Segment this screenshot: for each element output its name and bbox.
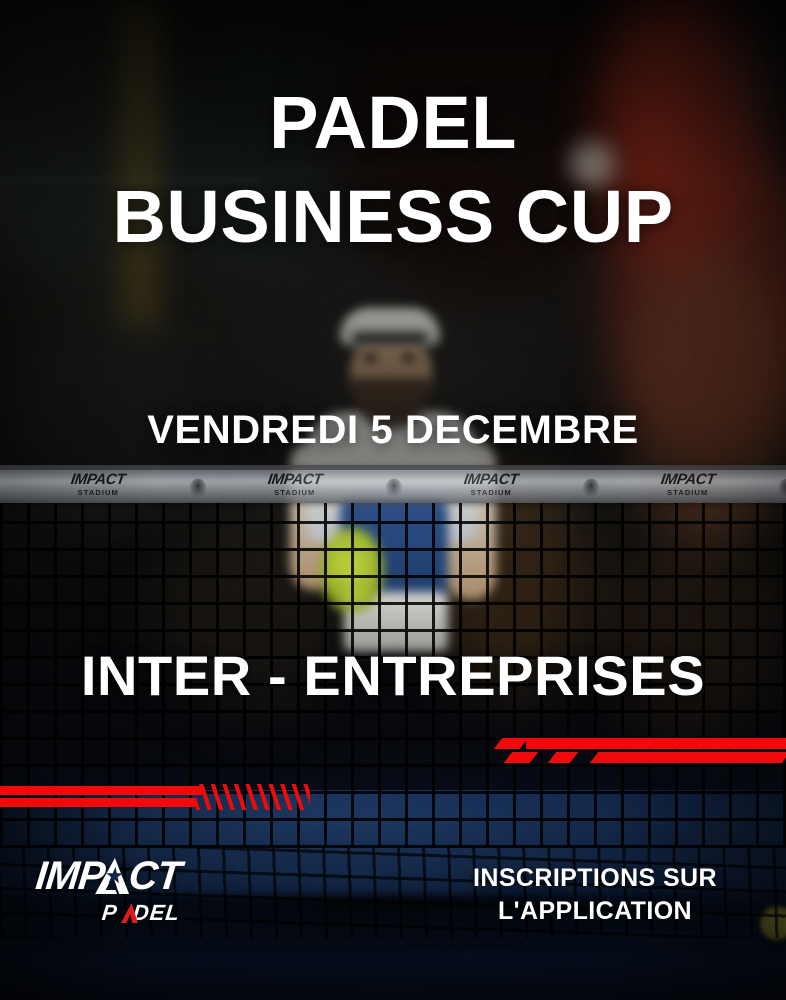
impact-stadium-subtitle: STADIUM [274, 488, 315, 497]
event-category-text: INTER - ENTREPRISES [0, 648, 786, 704]
impact-wordmark: IMPACT [34, 856, 183, 896]
cta-line-2: L'APPLICATION [430, 895, 760, 928]
impact-stadium-logo: IMPACT [660, 472, 716, 487]
cta-line-1: INSCRIPTIONS SUR [430, 862, 760, 895]
registration-cta[interactable]: INSCRIPTIONS SUR L'APPLICATION [430, 862, 760, 928]
impact-stadium-subtitle: STADIUM [78, 488, 119, 497]
event-date-text: VENDREDI 5 DECEMBRE [0, 410, 786, 450]
net-band-clip-icon [779, 479, 786, 497]
impact-stadium-logo: IMPACT [70, 472, 126, 487]
poster-title-line-1: PADEL [0, 86, 786, 160]
padel-wordmark: PADEL [101, 902, 181, 924]
bokeh-blob [118, 0, 160, 330]
player-eye [364, 354, 377, 362]
player-eye [402, 354, 415, 362]
padel-red-a-icon [121, 903, 140, 923]
red-stripe-hatch [196, 784, 310, 810]
impact-stadium-subtitle: STADIUM [667, 488, 708, 497]
impact-stadium-logo: IMPACT [267, 472, 323, 487]
impact-stadium-subtitle: STADIUM [471, 488, 512, 497]
red-stripe-dash [504, 752, 539, 763]
red-stripe-bar [0, 798, 196, 807]
net-band-cell: IMPACT STADIUM [590, 465, 786, 503]
net-band-cell: IMPACT STADIUM [0, 465, 197, 503]
impact-stadium-logo: IMPACT [463, 472, 519, 487]
player-cap-band [352, 332, 428, 344]
red-speed-stripes-right [486, 726, 786, 780]
net-band-cell: IMPACT STADIUM [393, 465, 590, 503]
red-stripe-dash [494, 738, 529, 749]
red-stripe-bar [0, 786, 202, 795]
poster-canvas: IMPACT STADIUM IMPACT STADIUM IMPACT STA… [0, 0, 786, 1000]
poster-title-line-2: BUSINESS CUP [0, 180, 786, 254]
net-sponsor-band: IMPACT STADIUM IMPACT STADIUM IMPACT STA… [0, 465, 786, 503]
red-stripe-dash [548, 752, 579, 763]
red-speed-stripes-left [0, 778, 330, 818]
net-band-cell: IMPACT STADIUM [197, 465, 394, 503]
impact-padel-logo[interactable]: IMPACT PADEL [36, 856, 256, 925]
